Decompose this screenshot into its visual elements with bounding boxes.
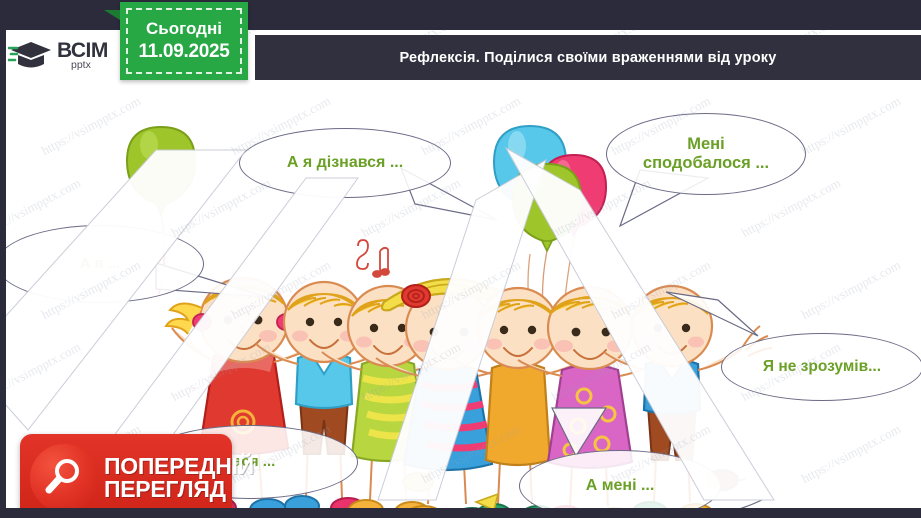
slide-canvas: .ol{fill:none;stroke:#7a4a2a;stroke-widt…: [6, 30, 921, 508]
date-badge-value: 11.09.2025: [138, 41, 229, 63]
preview-badge[interactable]: ПОПЕРЕДНІЙ ПЕРЕГЛЯД: [20, 434, 232, 508]
speech-bubble-spodobalos[interactable]: Мені сподобалося ...: [606, 113, 806, 195]
bottom-edge-strip: [0, 508, 921, 518]
speech-bubble-diznavsya-text: А я дізнався ...: [281, 154, 409, 172]
speech-bubble-diznavsya[interactable]: А я дізнався ...: [239, 128, 451, 198]
speech-bubble-nezrozumiv[interactable]: Я не зрозумів...: [721, 333, 921, 401]
magnifier-icon: [30, 444, 98, 508]
preview-badge-line1: ПОПЕРЕДНІЙ: [104, 455, 254, 478]
logo-sub: pptx: [71, 61, 108, 71]
speech-bubble-spodobalos-line2: сподобалося ...: [637, 154, 775, 173]
confetti-2: [476, 494, 498, 508]
logo-name: ВСІМ: [57, 41, 108, 61]
brand-logo[interactable]: ВСІМ pptx: [8, 30, 128, 82]
speech-bubble-spodobalos-line1: Мені: [637, 135, 775, 154]
music-notes: [357, 240, 389, 277]
slide-root: .ol{fill:none;stroke:#7a4a2a;stroke-widt…: [0, 0, 921, 518]
date-badge-inner: Сьогодні 11.09.2025: [126, 8, 242, 74]
speech-bubble-nezrozumiv-text: Я не зрозумів...: [757, 358, 887, 376]
confetti-1: [403, 473, 433, 491]
speech-bubble-a-meni-text: А мені ...: [580, 477, 661, 495]
speech-bubble-a-ya-text: А я ...: [74, 255, 126, 272]
left-edge-strip: [0, 0, 6, 518]
preview-badge-line2: ПЕРЕГЛЯД: [104, 478, 254, 501]
header-bar: Рефлексія. Поділися своїми враженнями ві…: [255, 35, 921, 80]
date-badge: Сьогодні 11.09.2025: [120, 2, 248, 80]
date-badge-label: Сьогодні: [146, 19, 222, 39]
graduation-cap-icon: [8, 39, 52, 73]
logo-text: ВСІМ pptx: [57, 41, 108, 72]
page-title: Рефлексія. Поділися своїми враженнями ві…: [400, 50, 777, 66]
